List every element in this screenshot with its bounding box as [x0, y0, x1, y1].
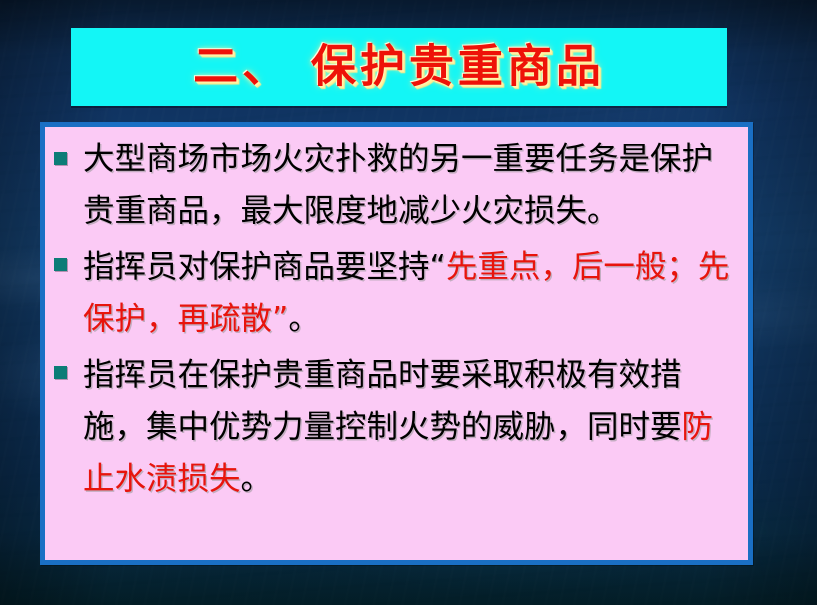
text-run: 大型商场市场火灾扑救的另一重要任务是保护贵重商品，最大限度地减少火灾损失。: [83, 141, 713, 229]
list-item-text: 指挥员对保护商品要坚持“先重点，后一般；先保护，再疏散”。: [83, 241, 742, 345]
bullet-list: 大型商场市场火灾扑救的另一重要任务是保护贵重商品，最大限度地减少火灾损失。 指挥…: [54, 135, 742, 509]
text-run: 。: [288, 301, 320, 337]
slide-canvas: 二、 保护贵重商品 大型商场市场火灾扑救的另一重要任务是保护贵重商品，最大限度地…: [0, 0, 817, 605]
text-run: “: [430, 249, 446, 285]
square-bullet-icon: [54, 366, 67, 379]
list-item: 指挥员对保护商品要坚持“先重点，后一般；先保护，再疏散”。: [54, 241, 742, 345]
content-panel: 大型商场市场火灾扑救的另一重要任务是保护贵重商品，最大限度地减少火灾损失。 指挥…: [40, 122, 753, 565]
list-item: 大型商场市场火灾扑救的另一重要任务是保护贵重商品，最大限度地减少火灾损失。: [54, 135, 742, 237]
text-run: 。: [241, 461, 273, 497]
list-item-text: 大型商场市场火灾扑救的另一重要任务是保护贵重商品，最大限度地减少火灾损失。: [83, 133, 742, 237]
text-run: 指挥员对保护商品要坚持: [83, 249, 430, 285]
list-item-text: 指挥员在保护贵重商品时要采取积极有效措施，集中优势力量控制火势的威胁，同时要防止…: [83, 349, 742, 505]
title-banner: 二、 保护贵重商品: [71, 28, 727, 106]
square-bullet-icon: [54, 152, 67, 165]
page-title: 二、 保护贵重商品: [71, 44, 727, 89]
square-bullet-icon: [54, 258, 67, 271]
text-run: 指挥员在保护贵重商品时要采取积极有效措施，集中优势力量控制火势的威胁，同时要: [83, 357, 682, 445]
list-item: 指挥员在保护贵重商品时要采取积极有效措施，集中优势力量控制火势的威胁，同时要防止…: [54, 349, 742, 505]
